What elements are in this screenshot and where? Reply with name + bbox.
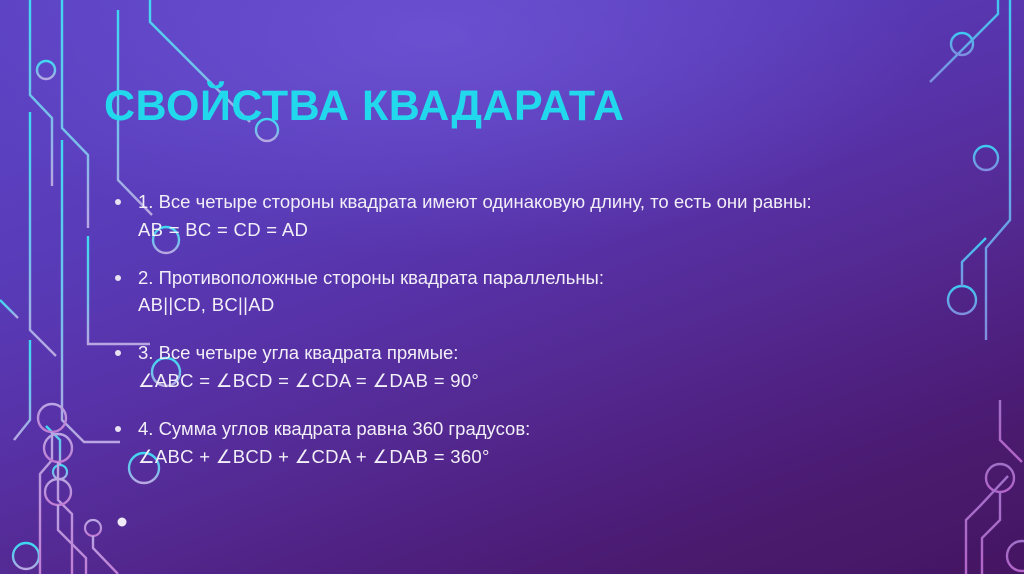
list-item: 4. Сумма углов квадрата равна 360 градус… [112, 417, 942, 469]
list-item: 1. Все четыре стороны квадрата имеют оди… [112, 190, 942, 242]
bullet-main-text: 4. Сумма углов квадрата равна 360 градус… [112, 417, 942, 441]
list-item: 3. Все четыре угла квадрата прямые: ∠ABC… [112, 341, 942, 393]
slide-title: СВОЙСТВА КВАДАРАТА [104, 82, 624, 131]
list-item: 2. Противоположные стороны квадрата пара… [112, 266, 942, 318]
presentation-slide: СВОЙСТВА КВАДАРАТА 1. Все четыре стороны… [0, 0, 1024, 574]
bullet-list: 1. Все четыре стороны квадрата имеют оди… [112, 190, 942, 469]
bullet-formula-text: AB = BC = CD = AD [112, 218, 942, 242]
decor-top-right [930, 0, 1022, 340]
bullet-formula-text: ∠ABC = ∠BCD = ∠CDA = ∠DAB = 90° [112, 369, 942, 393]
bullet-main-text: 3. Все четыре угла квадрата прямые: [112, 341, 942, 365]
decor-bottom-right [966, 360, 1024, 574]
bullet-formula-text: AB||CD, BC||AD [112, 293, 942, 317]
decor-bottom-left [0, 390, 127, 574]
bullet-dot-icon [115, 275, 121, 281]
bullet-main-text: 2. Противоположные стороны квадрата пара… [112, 266, 942, 290]
bullet-formula-text: ∠ABC + ∠BCD + ∠CDA + ∠DAB = 360° [112, 445, 942, 469]
bullet-dot-icon [115, 199, 121, 205]
bullet-main-text: 1. Все четыре стороны квадрата имеют оди… [112, 190, 942, 214]
